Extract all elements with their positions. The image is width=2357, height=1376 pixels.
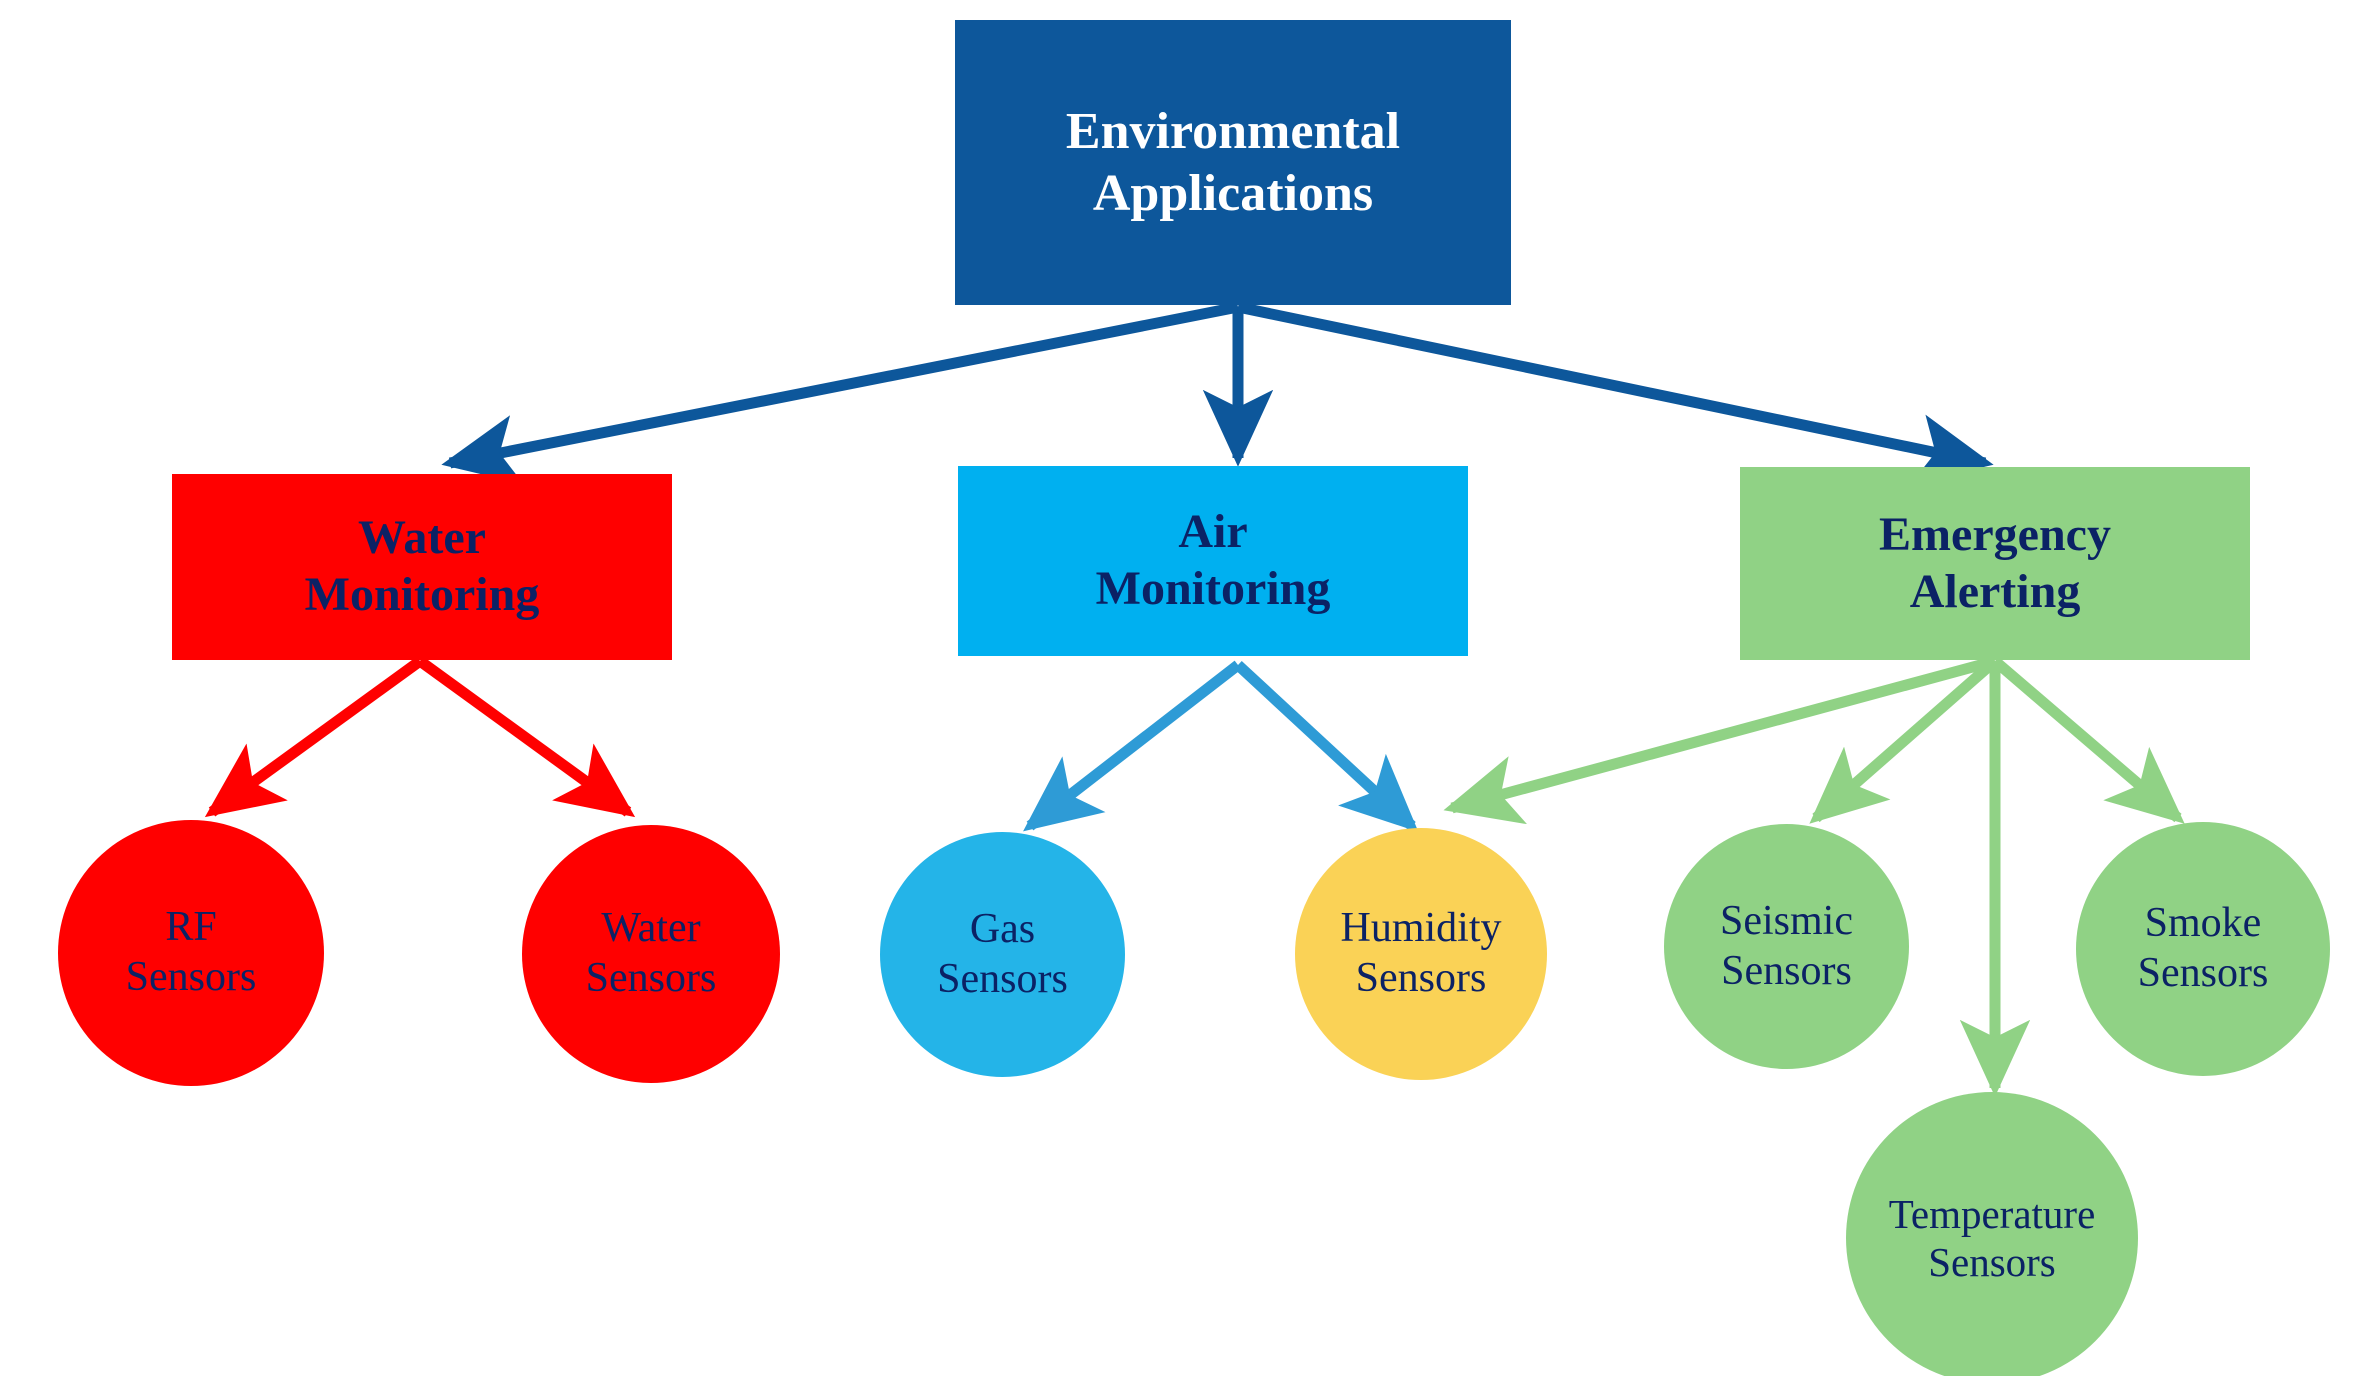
node-label: Smoke Sensors: [2076, 899, 2330, 998]
node-air-monitoring[interactable]: Air Monitoring: [958, 466, 1468, 656]
diagram-canvas: Environmental Applications Water Monitor…: [0, 0, 2357, 1376]
node-label: Water Monitoring: [172, 510, 672, 623]
edge-emergency-alerting-to-smoke-sensors: [1995, 661, 2178, 818]
node-water-monitoring[interactable]: Water Monitoring: [172, 474, 672, 660]
node-label: Water Sensors: [522, 904, 780, 1003]
edge-root-to-water-monitoring: [450, 307, 1238, 463]
edge-water-monitoring-to-rf-sensors: [212, 661, 420, 812]
node-gas-sensors[interactable]: Gas Sensors: [880, 832, 1125, 1077]
node-environmental-applications[interactable]: Environmental Applications: [955, 20, 1511, 305]
node-label: Temperature Sensors: [1846, 1190, 2138, 1287]
edge-water-monitoring-to-water-sensors: [420, 661, 628, 812]
node-emergency-alerting[interactable]: Emergency Alerting: [1740, 467, 2250, 660]
edge-air-monitoring-to-humidity-sensors: [1238, 665, 1412, 826]
node-label: RF Sensors: [58, 903, 324, 1002]
node-label: Environmental Applications: [955, 101, 1511, 224]
node-smoke-sensors[interactable]: Smoke Sensors: [2076, 822, 2330, 1076]
node-water-sensors[interactable]: Water Sensors: [522, 825, 780, 1083]
node-temperature-sensors[interactable]: Temperature Sensors: [1846, 1092, 2138, 1376]
node-label: Emergency Alerting: [1740, 507, 2250, 620]
node-label: Air Monitoring: [958, 504, 1468, 617]
node-label: Seismic Sensors: [1664, 897, 1909, 996]
node-seismic-sensors[interactable]: Seismic Sensors: [1664, 824, 1909, 1069]
node-label: Humidity Sensors: [1295, 904, 1547, 1003]
edge-root-to-emergency-alerting: [1238, 307, 1985, 463]
edge-emergency-alerting-to-humidity-sensors: [1452, 661, 1995, 808]
edge-emergency-alerting-to-seismic-sensors: [1816, 661, 1995, 818]
node-humidity-sensors[interactable]: Humidity Sensors: [1295, 828, 1547, 1080]
node-label: Gas Sensors: [880, 905, 1125, 1004]
node-rf-sensors[interactable]: RF Sensors: [58, 820, 324, 1086]
edge-air-monitoring-to-gas-sensors: [1030, 665, 1238, 826]
